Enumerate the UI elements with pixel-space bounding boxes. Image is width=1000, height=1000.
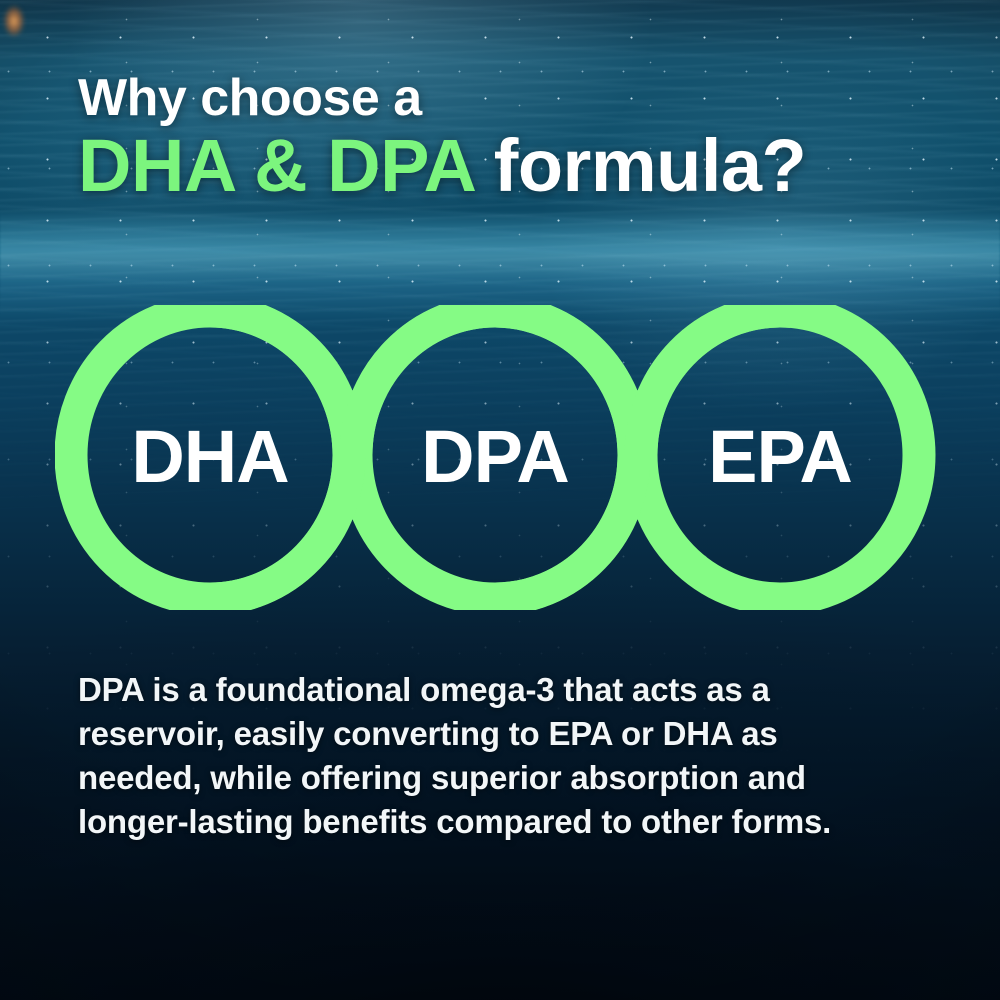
ring-label-dha: DHA [131, 415, 288, 498]
headline: Why choose a DHA & DPA formula? [78, 74, 938, 201]
headline-accent-text: DHA & DPA [78, 124, 474, 207]
headline-line-2: DHA & DPA formula? [78, 130, 938, 201]
body-paragraph: DPA is a foundational omega-3 that acts … [78, 668, 908, 844]
headline-plain-text: formula? [474, 124, 807, 207]
ring-label-epa: EPA [708, 415, 852, 498]
omega-rings-logo: DHA DPA EPA [55, 305, 945, 610]
headline-line-1: Why choose a [78, 74, 938, 124]
ring-label-dpa: DPA [421, 415, 569, 498]
poster-canvas: Why choose a DHA & DPA formula? [0, 0, 1000, 1000]
